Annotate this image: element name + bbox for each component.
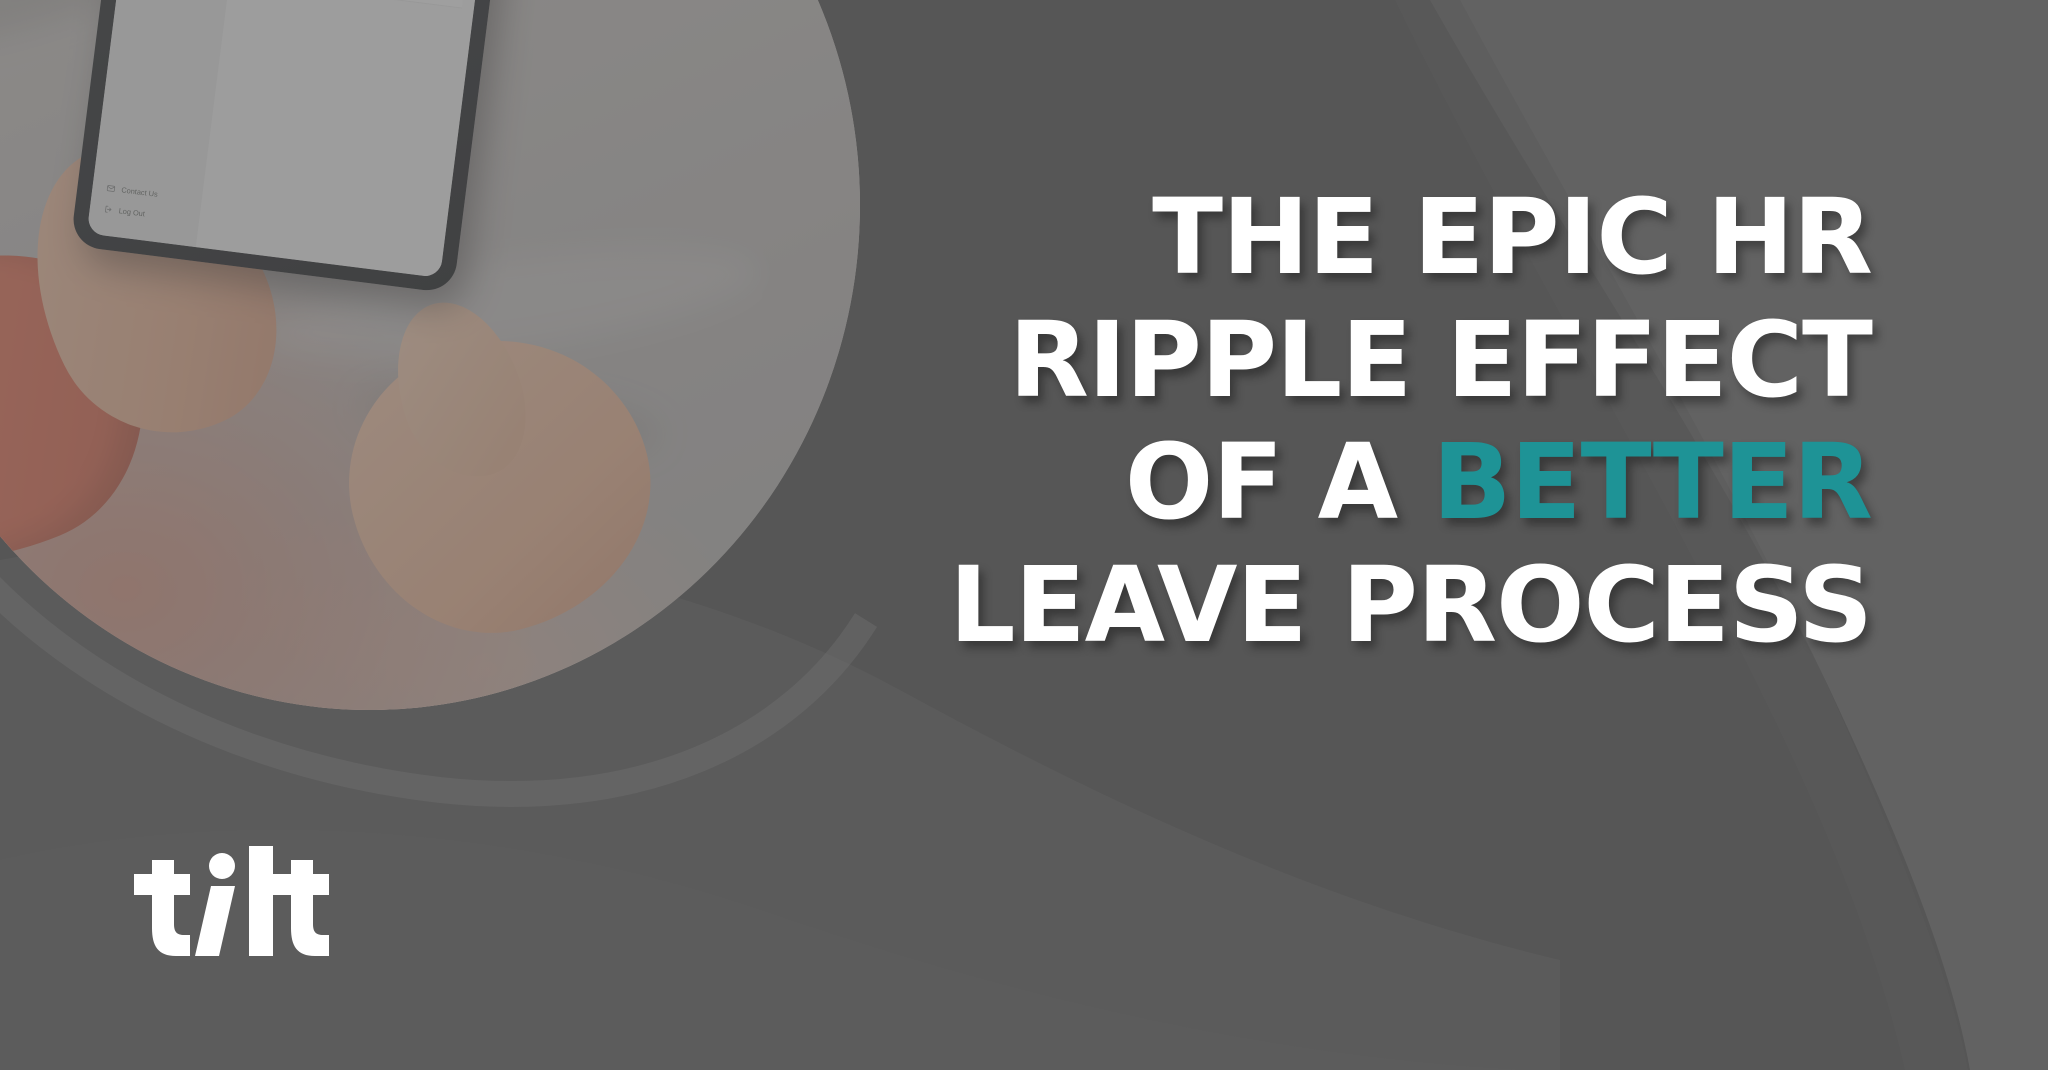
title-card-canvas: tilt Dashboard — [0, 0, 2048, 1070]
headline: THE EPIC HR RIPPLE EFFECT OF A BETTER LE… — [600, 176, 1960, 667]
headline-line-4: LEAVE PROCESS — [600, 544, 1872, 667]
headline-line-1: THE EPIC HR — [600, 176, 1872, 299]
headline-line-2: RIPPLE EFFECT — [600, 299, 1872, 422]
headline-line-3: OF A BETTER — [600, 421, 1872, 544]
headline-accent-word: BETTER — [1432, 421, 1872, 543]
tilt-logo — [110, 826, 350, 966]
headline-line-3-plain: OF A — [1125, 421, 1432, 543]
